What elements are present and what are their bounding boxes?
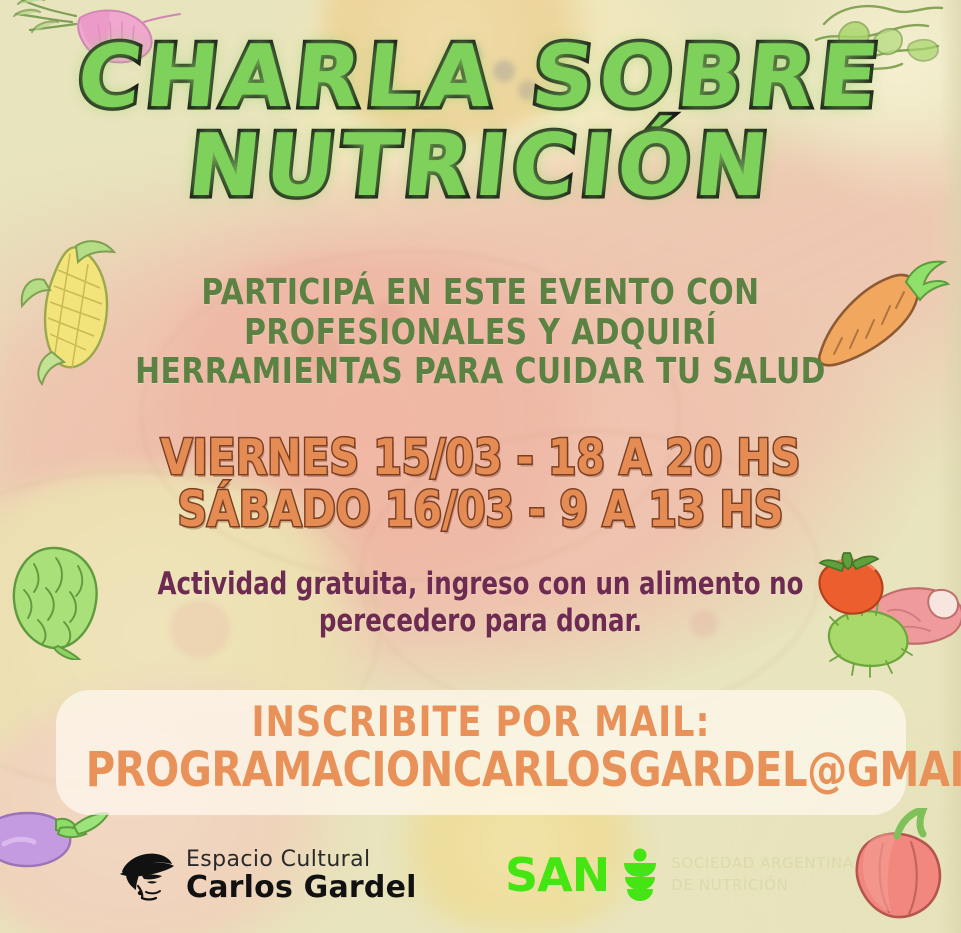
subtitle-line-2: PROFESIONALES Y ADQUIRÍ [38, 313, 922, 353]
title-line-2: NUTRICIÓN [0, 127, 961, 206]
wheat-grain-icon [619, 848, 661, 902]
event-date-saturday: SÁBADO 16/03 - 9 A 13 HS [34, 484, 928, 536]
nutrition-talk-poster: CHARLA SOBRE NUTRICIÓN PARTICIPÁ EN ESTE… [0, 0, 961, 933]
event-date-friday: VIERNES 15/03 - 18 A 20 HS [34, 432, 928, 484]
registration-call-to-action: INSCRIBITE POR MAIL: [86, 700, 877, 745]
venue-name-line-1: Espacio Cultural [186, 849, 417, 871]
subtitle-line-3: HERRAMIENTAS PARA CUIDAR TU SALUD [38, 352, 922, 392]
sponsor-fullname-line-2: DE NUTRICIÓN [671, 875, 853, 897]
venue-name: Espacio Cultural Carlos Gardel [186, 849, 417, 903]
subtitle-line-1: PARTICIPÁ EN ESTE EVENTO CON [38, 273, 922, 313]
carlos-gardel-face-icon [116, 846, 176, 906]
poster-subtitle: PARTICIPÁ EN ESTE EVENTO CON PROFESIONAL… [38, 273, 922, 392]
registration-text: INSCRIBITE POR MAIL: PROGRAMACIONCARLOSG… [86, 700, 877, 795]
sponsor-fullname-line-1: SOCIEDAD ARGENTINA [671, 853, 853, 875]
title-line-1: CHARLA SOBRE [0, 38, 961, 117]
admission-note: Actividad gratuita, ingreso con un alime… [58, 566, 904, 639]
admission-note-line-2: perecedero para donar. [58, 603, 904, 640]
sponsor-logo: SAN SOCIEDAD ARGENTINA DE NUTRICIÓN [505, 848, 854, 902]
venue-name-line-2: Carlos Gardel [186, 873, 417, 903]
sponsor-acronym: SAN [505, 852, 609, 898]
admission-note-line-1: Actividad gratuita, ingreso con un alime… [58, 566, 904, 603]
event-dates: VIERNES 15/03 - 18 A 20 HS SÁBADO 16/03 … [34, 432, 928, 536]
poster-title: CHARLA SOBRE NUTRICIÓN [0, 38, 961, 206]
venue-logo: Espacio Cultural Carlos Gardel [116, 846, 417, 906]
sponsor-fullname: SOCIEDAD ARGENTINA DE NUTRICIÓN [671, 853, 853, 897]
registration-email-address[interactable]: PROGRAMACIONCARLOSGARDEL@GMAIL.COM [86, 745, 877, 796]
